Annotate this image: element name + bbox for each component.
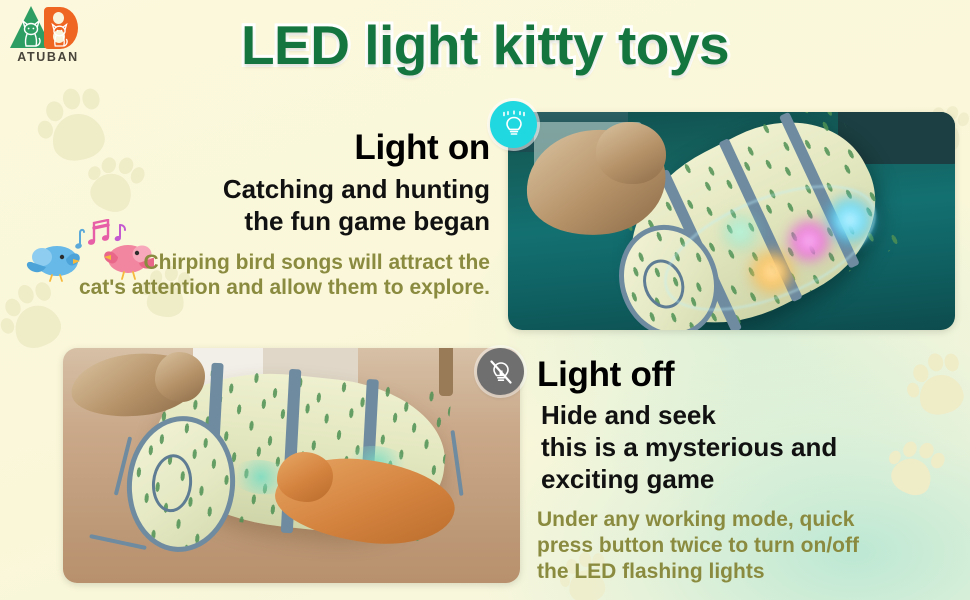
heading-light-on: Light on bbox=[10, 128, 490, 167]
note-line: Under any working mode, quick bbox=[537, 508, 854, 531]
note-line: Chirping bird songs will attract the bbox=[10, 250, 490, 276]
note-light-off: Under any working mode, quick press butt… bbox=[537, 507, 957, 584]
subheading-light-on: Catching and hunting the fun game began bbox=[10, 174, 490, 237]
subheading-line: Catching and hunting bbox=[223, 174, 490, 204]
tunnel-ribbon bbox=[89, 534, 147, 550]
text-block-light-off: Light off Hide and seek this is a myster… bbox=[537, 355, 957, 584]
note-line: press button twice to turn on/off bbox=[537, 534, 859, 557]
subheading-line: exciting game bbox=[541, 464, 714, 494]
note-light-on: Chirping bird songs will attract the cat… bbox=[10, 250, 490, 301]
tunnel-ribbon bbox=[450, 430, 463, 496]
photo-light-off bbox=[63, 348, 520, 583]
cat-silhouette-icon bbox=[50, 22, 69, 48]
subheading-line: the fun game began bbox=[244, 206, 490, 236]
subheading-line: this is a mysterious and bbox=[541, 432, 837, 462]
cat-head bbox=[155, 352, 205, 402]
subheading-light-off: Hide and seek this is a mysterious and e… bbox=[537, 400, 957, 495]
cat-head bbox=[277, 452, 333, 502]
heading-light-off: Light off bbox=[537, 355, 957, 394]
promo-banner: ATUBAN LED light kitty toys bbox=[0, 0, 970, 600]
cat-head bbox=[596, 122, 666, 184]
cat-silhouette-icon bbox=[20, 18, 42, 48]
note-line: the LED flashing lights bbox=[537, 560, 765, 583]
lightbulb-off-icon[interactable] bbox=[477, 348, 524, 395]
lightbulb-on-icon[interactable] bbox=[490, 101, 537, 148]
photo-light-on bbox=[508, 112, 955, 330]
subheading-line: Hide and seek bbox=[541, 400, 716, 430]
note-line: cat's attention and allow them to explor… bbox=[10, 275, 490, 301]
page-title: LED light kitty toys bbox=[0, 13, 970, 77]
text-block-light-on: Light on Catching and hunting the fun ga… bbox=[10, 128, 490, 301]
table-leg bbox=[439, 348, 453, 396]
